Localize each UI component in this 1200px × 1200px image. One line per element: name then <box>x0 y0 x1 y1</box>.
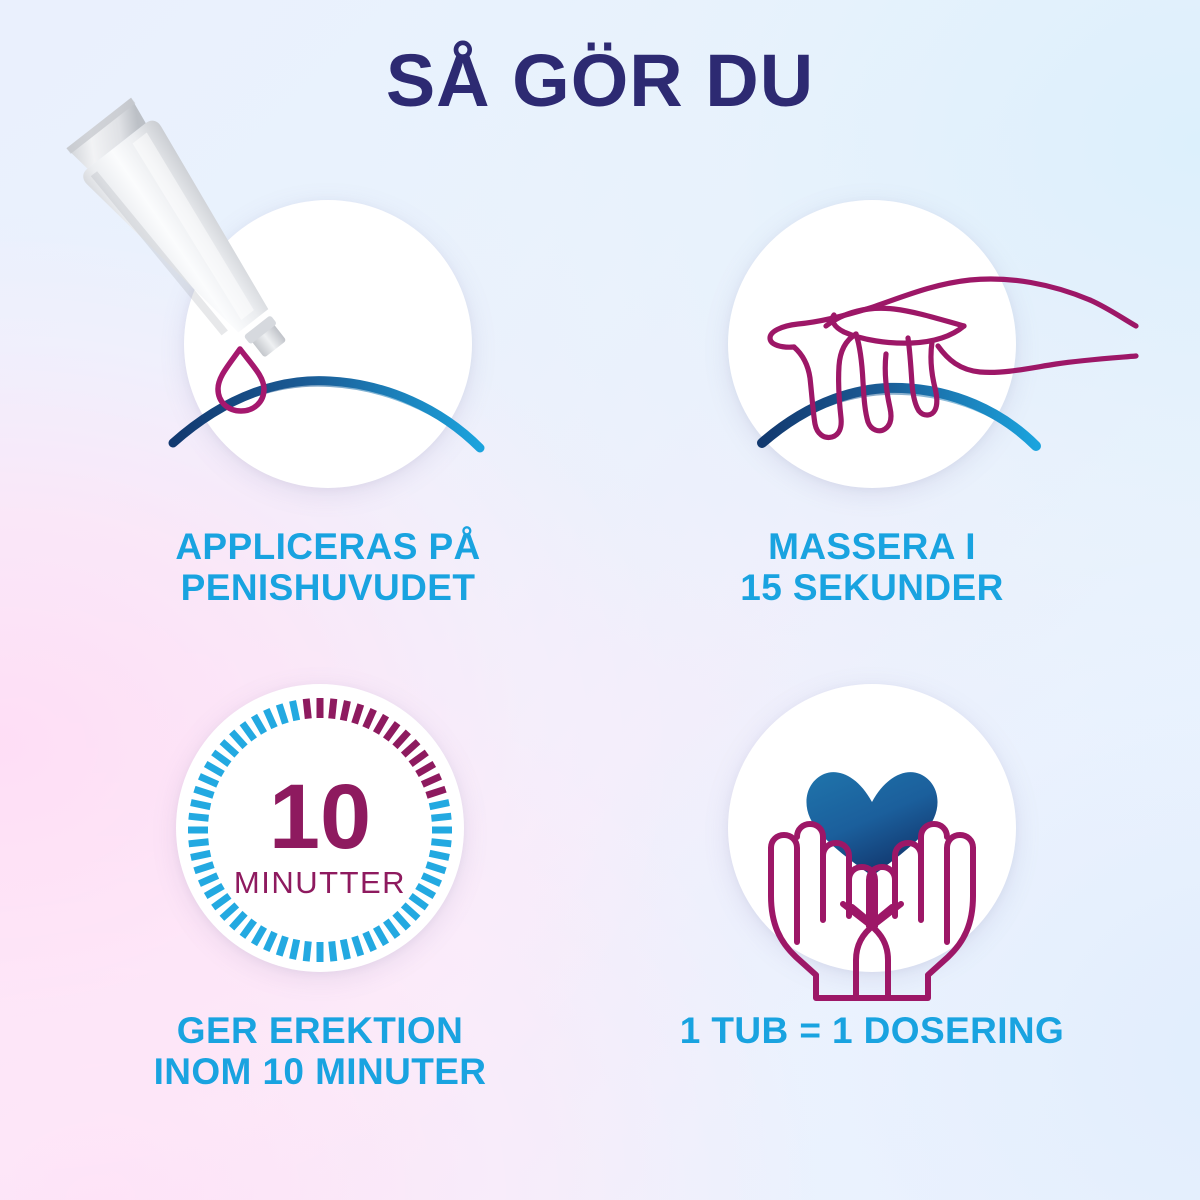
icon-disc <box>728 684 1016 972</box>
step-card-dose: 1 TUB = 1 DOSERING <box>612 680 1132 1051</box>
icon-disc <box>728 200 1016 488</box>
step-card-apply: APPLICERAS PÅ PENISHUVUDET <box>68 196 588 609</box>
step-icon-area-massage <box>612 196 1132 496</box>
step-icon-area-apply <box>68 196 588 496</box>
step-label-timing: GER EREKTION INOM 10 MINUTER <box>60 1010 580 1093</box>
step-label-massage: MASSERA I 15 SEKUNDER <box>612 526 1132 609</box>
step-icon-area-dose <box>612 680 1132 980</box>
promo-instructions-page: SÅ GÖR DU <box>0 0 1200 1200</box>
icon-disc <box>184 200 472 488</box>
step-icon-area-timing: 10 MINUTTER <box>60 680 580 980</box>
icon-disc <box>176 684 464 972</box>
step-label-apply: APPLICERAS PÅ PENISHUVUDET <box>68 526 588 609</box>
step-label-dose: 1 TUB = 1 DOSERING <box>612 1010 1132 1051</box>
page-title: SÅ GÖR DU <box>0 44 1200 118</box>
step-card-timing: 10 MINUTTER GER EREKTION INOM 10 MINUTER <box>60 680 580 1093</box>
step-card-massage: MASSERA I 15 SEKUNDER <box>612 196 1132 609</box>
